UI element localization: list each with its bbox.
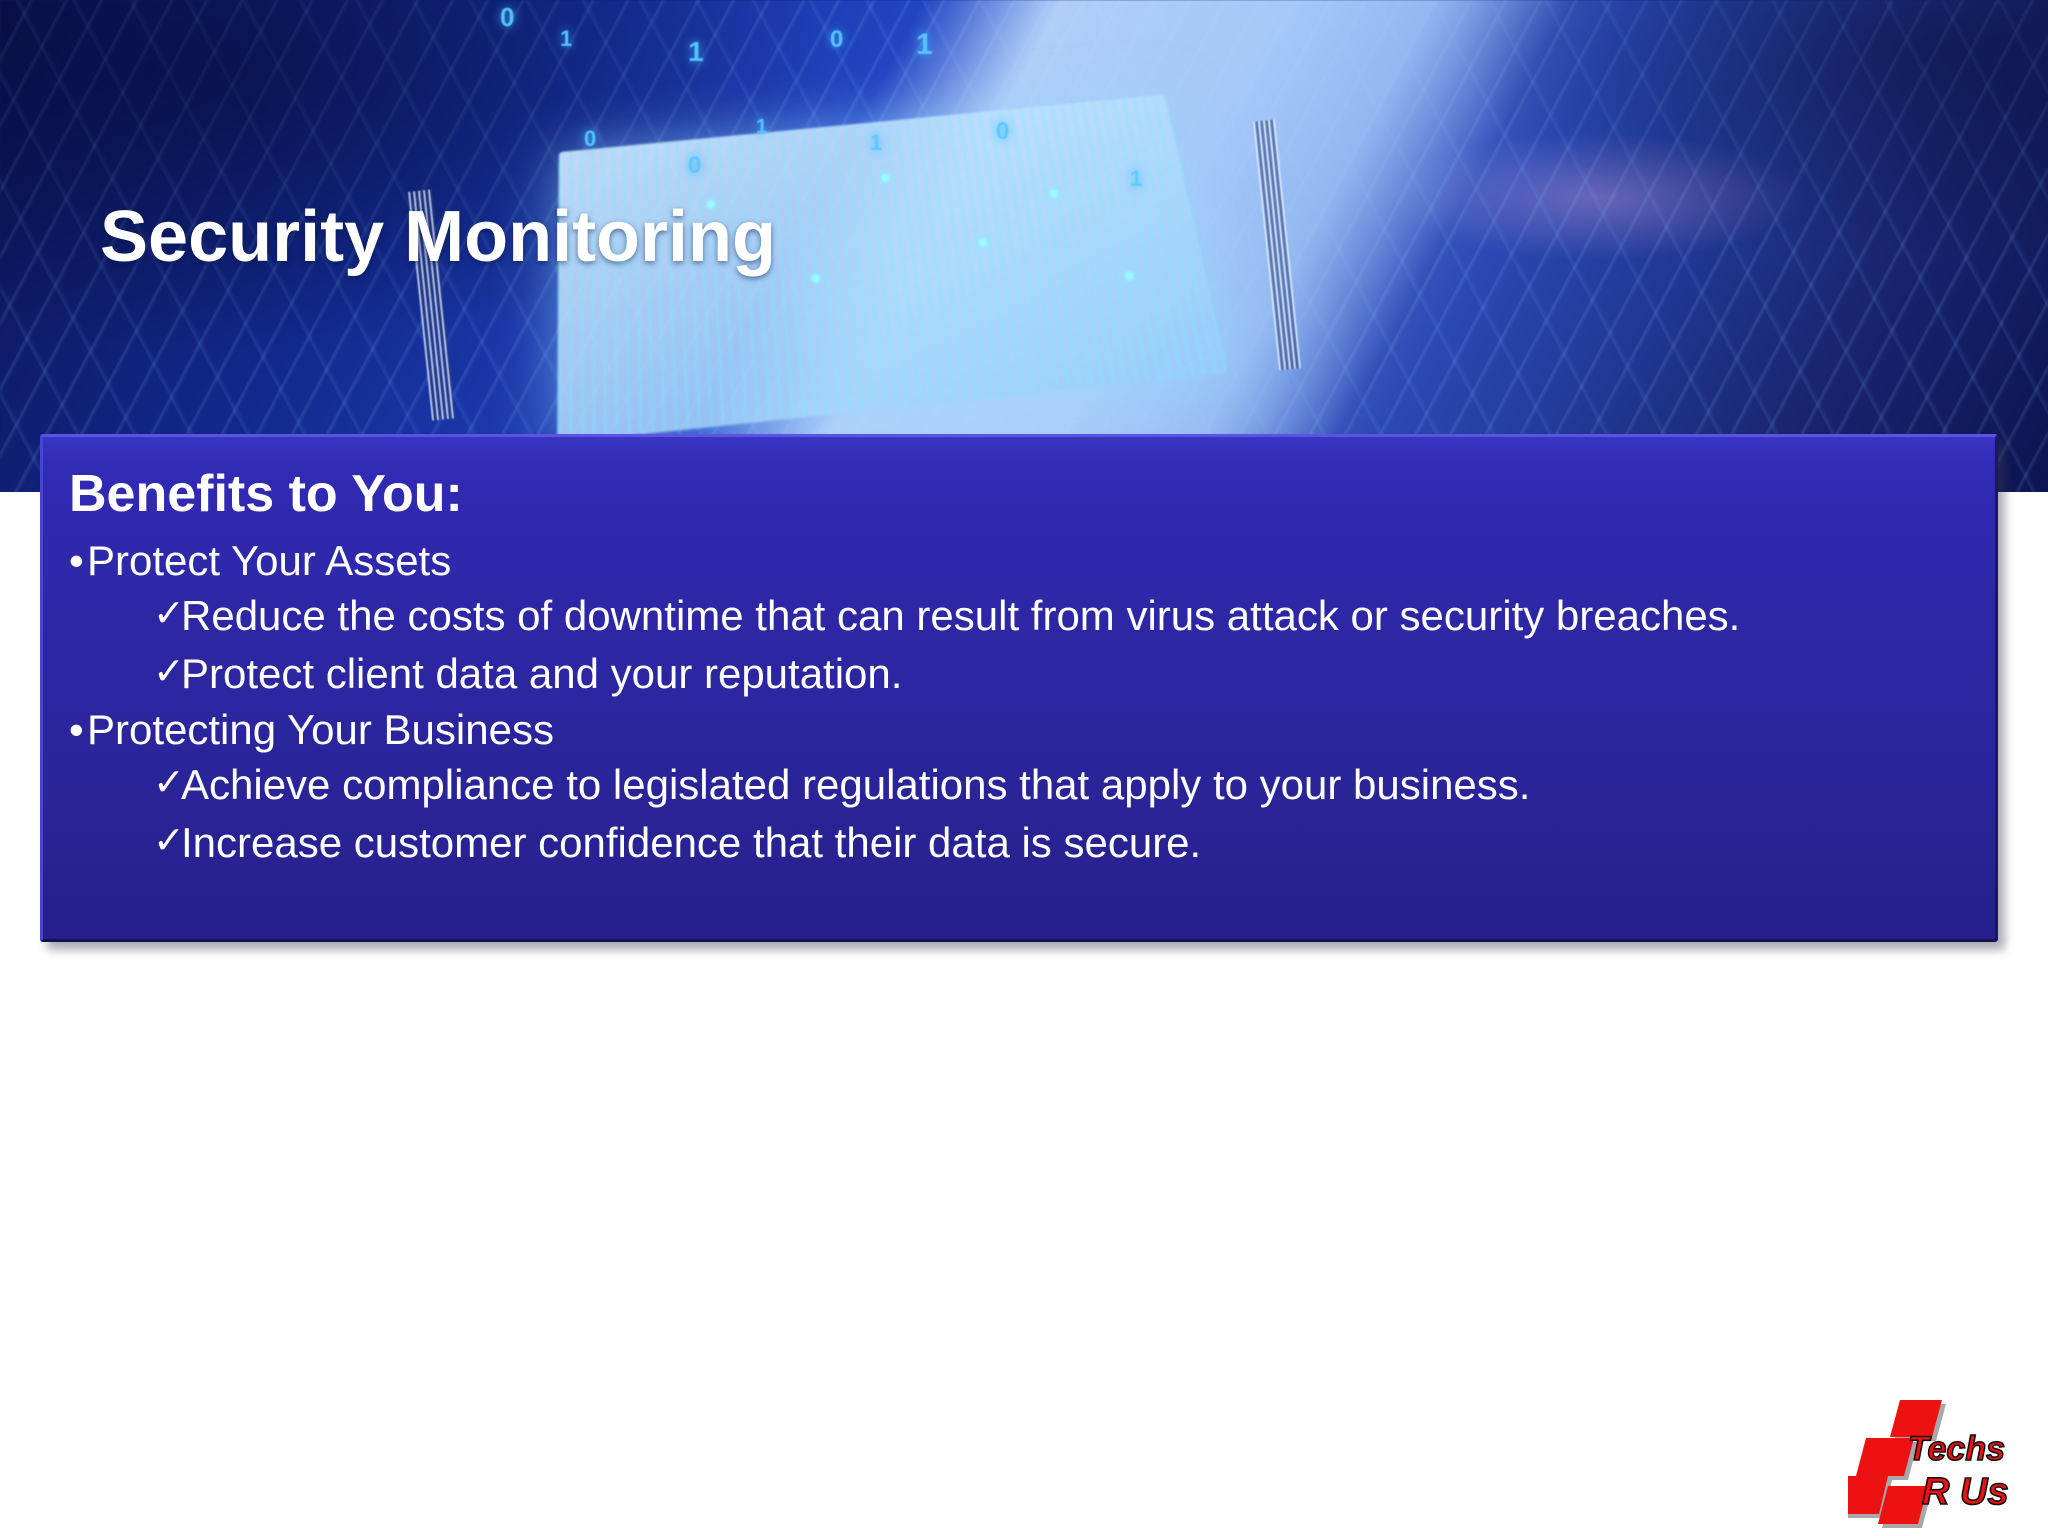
slide-title: Security Monitoring xyxy=(100,196,776,278)
benefits-content-box: Benefits to You: • Protect Your Assets ✓… xyxy=(40,434,1998,942)
binary-digit: 1 xyxy=(1130,166,1142,192)
checkmark-icon: ✓ xyxy=(153,647,181,698)
checkmark-icon: ✓ xyxy=(153,758,181,809)
bullet-text: Reduce the costs of downtime that can re… xyxy=(181,589,1740,643)
binary-digit: 1 xyxy=(916,28,933,62)
logo-text-line1: Techs xyxy=(1908,1430,2005,1468)
logo-graphic: Techs R Us xyxy=(1848,1394,2038,1530)
header-banner: 0 1 1 0 1 0 1 0 1 0 1 Security Monitorin… xyxy=(0,0,2048,492)
bullet-text: Protect client data and your reputation. xyxy=(181,647,902,701)
logo-text-line2: R Us xyxy=(1922,1471,2009,1513)
binary-digit: 1 xyxy=(756,116,767,139)
checkmark-icon: ✓ xyxy=(153,816,181,867)
checkmark-icon: ✓ xyxy=(153,589,181,640)
bullet-dot-icon: • xyxy=(69,705,87,755)
bullet-item-level2: ✓ Achieve compliance to legislated regul… xyxy=(153,758,1943,812)
benefits-bullet-list: • Protect Your Assets ✓ Reduce the costs… xyxy=(57,536,1969,870)
binary-digit: 1 xyxy=(560,26,572,52)
bullet-text: Protect Your Assets xyxy=(87,536,451,586)
bullet-dot-icon: • xyxy=(69,536,87,586)
bullet-item-level1: • Protecting Your Business xyxy=(69,705,1969,755)
bullet-text: Protecting Your Business xyxy=(87,705,554,755)
bullet-item-level2: ✓ Protect client data and your reputatio… xyxy=(153,647,1943,701)
binary-digit: 0 xyxy=(688,152,701,180)
techs-r-us-logo: Techs R Us xyxy=(1848,1394,2038,1530)
binary-digit: 1 xyxy=(688,36,704,68)
bullet-text: Achieve compliance to legislated regulat… xyxy=(181,758,1530,812)
binary-digit: 0 xyxy=(500,2,514,33)
binary-digit: 0 xyxy=(830,26,843,54)
binary-digit: 0 xyxy=(996,118,1009,146)
bullet-item-level2: ✓ Increase customer confidence that thei… xyxy=(153,816,1943,870)
binary-digit: 1 xyxy=(870,130,882,156)
bullet-item-level1: • Protect Your Assets xyxy=(69,536,1969,586)
bullet-item-level2: ✓ Reduce the costs of downtime that can … xyxy=(153,589,1943,643)
bullet-text: Increase customer confidence that their … xyxy=(181,816,1201,870)
benefits-heading: Benefits to You: xyxy=(69,467,1969,522)
binary-digit: 0 xyxy=(584,126,596,152)
